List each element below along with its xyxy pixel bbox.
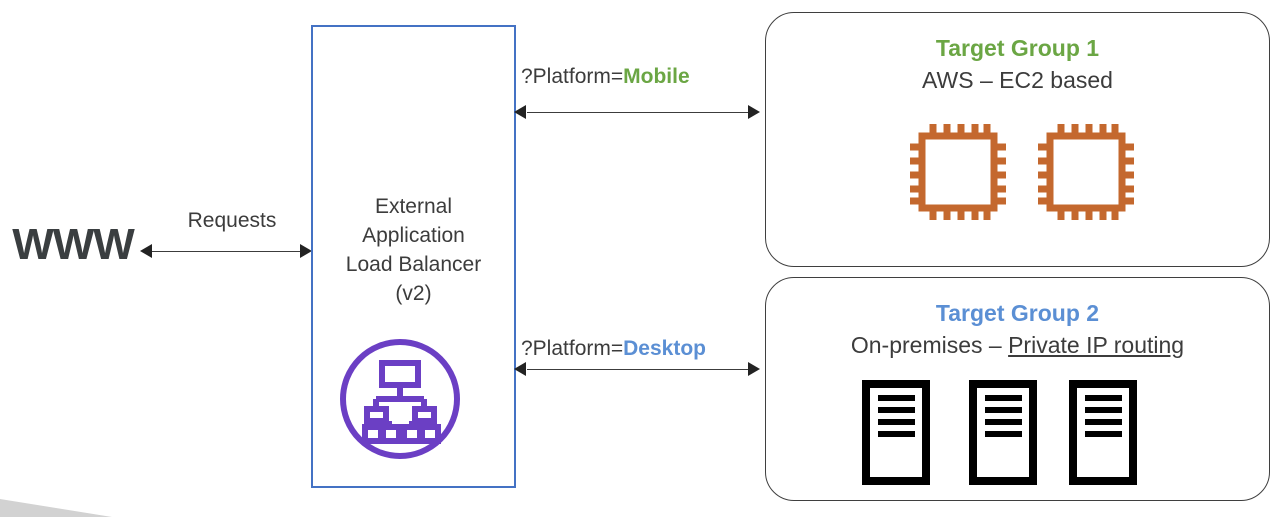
ec2-chip-icon bbox=[1038, 124, 1134, 220]
load-balancer-title-line-1: External bbox=[316, 192, 511, 221]
load-balancer-title-line-2: Application bbox=[316, 221, 511, 250]
target-group-2-title: Target Group 2 bbox=[765, 300, 1270, 327]
slide-corner-wedge bbox=[0, 493, 300, 517]
www-label: WWW bbox=[12, 219, 134, 271]
routing-rule-desktop-value: Desktop bbox=[623, 337, 706, 360]
target-group-2-subtitle-underlined: Private IP routing bbox=[1008, 332, 1184, 358]
routing-arrow-mobile-head-left bbox=[514, 105, 526, 119]
routing-rule-desktop-key: ?Platform= bbox=[521, 337, 623, 360]
routing-arrow-desktop-line bbox=[527, 369, 751, 370]
load-balancer-title-line-4: (v2) bbox=[316, 279, 511, 308]
routing-rule-mobile-label: ?Platform=Mobile bbox=[521, 65, 690, 89]
load-balancer-title-line-3: Load Balancer bbox=[316, 250, 511, 279]
routing-rule-desktop-label: ?Platform=Desktop bbox=[521, 337, 706, 361]
target-group-1-title: Target Group 1 bbox=[765, 35, 1270, 62]
routing-arrow-mobile-head-right bbox=[748, 105, 760, 119]
routing-arrow-desktop-head-right bbox=[748, 362, 760, 376]
routing-arrow-mobile-line bbox=[527, 112, 751, 113]
ec2-instances-group bbox=[905, 118, 1145, 228]
routing-rule-mobile-value: Mobile bbox=[623, 65, 690, 88]
architecture-diagram: WWW Requests External Application Load B… bbox=[0, 0, 1284, 517]
target-group-1-subtitle: AWS – EC2 based bbox=[765, 67, 1270, 94]
target-group-2-subtitle-prefix: On-premises – bbox=[851, 332, 1008, 358]
requests-arrow-head-left bbox=[140, 244, 152, 258]
requests-arrow-line bbox=[152, 251, 310, 252]
routing-rule-mobile-key: ?Platform= bbox=[521, 65, 623, 88]
load-balancer-hierarchy-icon bbox=[338, 337, 462, 461]
server-rack-icon bbox=[1073, 384, 1133, 481]
ec2-chip-icon bbox=[910, 124, 1006, 220]
on-premises-servers-group bbox=[860, 380, 1145, 485]
target-group-2-subtitle: On-premises – Private IP routing bbox=[765, 332, 1270, 359]
server-rack-icon bbox=[973, 384, 1033, 481]
routing-arrow-desktop-head-left bbox=[514, 362, 526, 376]
requests-label: Requests bbox=[152, 209, 312, 233]
load-balancer-title: External Application Load Balancer (v2) bbox=[316, 192, 511, 308]
server-rack-icon bbox=[866, 384, 926, 481]
